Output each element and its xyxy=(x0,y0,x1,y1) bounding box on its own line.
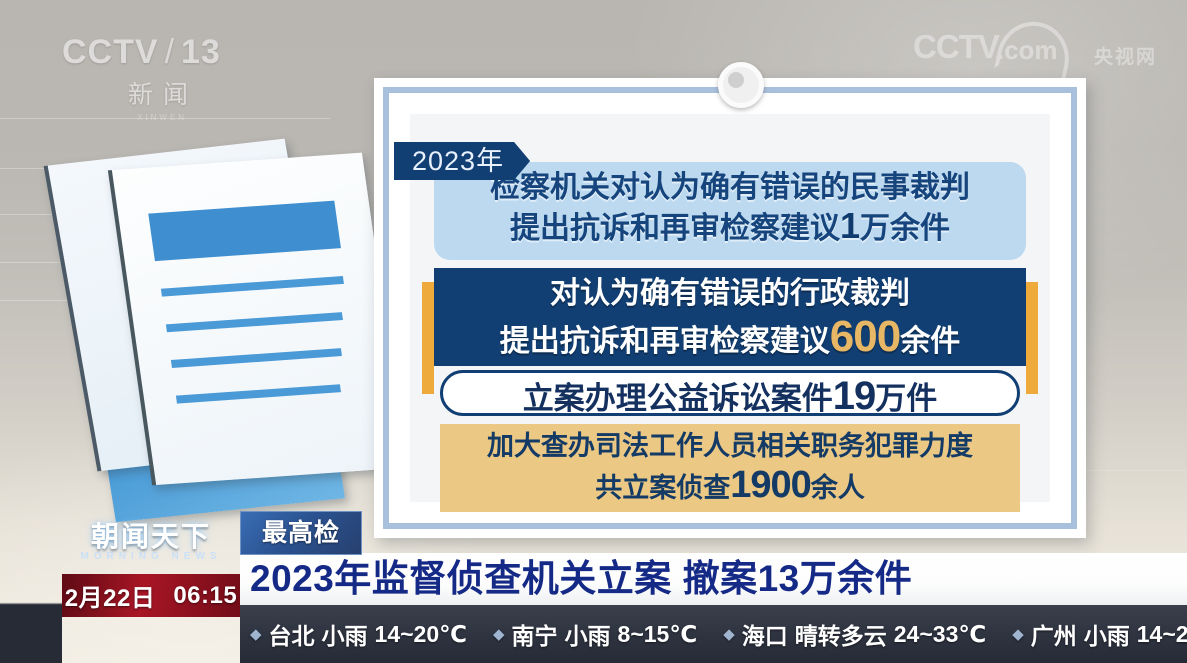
stat-admin-line2: 提出抗诉和再审检察建议600余件 xyxy=(434,311,1026,363)
weather-condition: 小雨 xyxy=(1084,617,1130,651)
stat-duty-prefix: 共立案侦查 xyxy=(595,473,730,503)
program-title: 朝闻天下 xyxy=(62,515,240,555)
stat-public-suffix: 万件 xyxy=(875,381,937,416)
weather-city: 海口 xyxy=(742,617,788,651)
stat-civil-prefix: 提出抗诉和再审检察建议 xyxy=(510,212,840,245)
weather-city: 台北 xyxy=(269,617,315,651)
weather-ticker: ◆ 台北 小雨 14~20℃ ◆ 南宁 小雨 8~15℃ ◆ 海口 晴转多云 2… xyxy=(240,605,1187,663)
stat-duty-line2: 共立案侦查1900余人 xyxy=(440,463,1020,508)
program-subtitle: MORNING NEWS xyxy=(62,551,240,562)
lower-third-chyron: 最高检 朝闻天下 MORNING NEWS 2月22日 06:15 2023年监… xyxy=(0,558,1187,663)
stat-public-prefix: 立案办理公益诉讼案件 xyxy=(523,381,833,416)
stat-block-duty-crime: 加大查办司法工作人员相关职务犯罪力度 共立案侦查1900余人 xyxy=(440,424,1020,512)
weather-temp: 24~33℃ xyxy=(894,621,986,648)
stat-public-number: 19 xyxy=(833,374,876,418)
channel-logo-cctv: CCTV xyxy=(62,33,159,72)
channel-logo: CCTV / 13 新闻 XINWEN xyxy=(62,33,252,125)
accent-bar-left xyxy=(422,282,434,394)
stat-admin-number: 600 xyxy=(830,312,900,361)
stat-public-line1: 立案办理公益诉讼案件19万件 xyxy=(443,373,1017,420)
stat-duty-line1: 加大查办司法工作人员相关职务犯罪力度 xyxy=(440,431,1020,463)
stat-block-civil: 检察机关对认为确有错误的民事裁判 提出抗诉和再审检察建议1万余件 xyxy=(434,162,1026,260)
weather-item: ◆ 海口 晴转多云 24~33℃ xyxy=(723,617,986,651)
program-logo: 朝闻天下 MORNING NEWS xyxy=(62,511,240,574)
datetime-block: 2月22日 06:15 xyxy=(62,574,240,617)
broadcast-time: 06:15 xyxy=(173,582,237,610)
weather-item: ◆ 南宁 小雨 8~15℃ xyxy=(493,617,697,651)
weather-temp: 8~15℃ xyxy=(618,621,698,648)
watermark-cctv-text: CCTV xyxy=(913,28,999,66)
watermark-cn-text: 央视网 xyxy=(1094,42,1157,69)
panel-knob-icon xyxy=(718,62,764,108)
weather-city: 南宁 xyxy=(512,617,558,651)
stat-duty-suffix: 余人 xyxy=(811,473,865,503)
weather-item: ◆ 广州 小雨 14~2 xyxy=(1012,617,1187,651)
channel-logo-subtitle: 新闻 xyxy=(62,75,252,111)
stat-civil-suffix: 万余件 xyxy=(860,212,950,245)
document-line xyxy=(176,384,341,403)
stat-block-administrative: 对认为确有错误的行政裁判 提出抗诉和再审检察建议600余件 xyxy=(434,268,1026,366)
info-panel: 2023年 检察机关对认为确有错误的民事裁判 提出抗诉和再审检察建议1万余件 对… xyxy=(374,78,1086,538)
broadcast-screen: CCTV / 13 新闻 XINWEN CCTV .com 央视网 2023年 xyxy=(0,0,1187,663)
broadcast-date: 2月22日 xyxy=(65,578,156,613)
document-graphic-front xyxy=(108,153,406,486)
chyron-left-cap xyxy=(0,553,62,663)
weather-temp: 14~20℃ xyxy=(375,621,467,648)
stat-civil-line1: 检察机关对认为确有错误的民事裁判 xyxy=(434,170,1026,205)
stat-admin-prefix: 提出抗诉和再审检察建议 xyxy=(500,325,830,358)
weather-bullet-icon: ◆ xyxy=(250,625,262,643)
panel-content-stage: 2023年 检察机关对认为确有错误的民事裁判 提出抗诉和再审检察建议1万余件 对… xyxy=(410,114,1050,502)
stat-admin-line1: 对认为确有错误的行政裁判 xyxy=(434,276,1026,311)
channel-logo-pinyin: XINWEN xyxy=(62,113,252,122)
stat-admin-suffix: 余件 xyxy=(900,325,960,358)
source-tag: 最高检 xyxy=(240,511,362,555)
weather-bullet-icon: ◆ xyxy=(1012,625,1024,643)
document-line xyxy=(166,312,343,332)
headline-text: 2023年监督侦查机关立案 撤案13万余件 xyxy=(240,553,1187,605)
document-line xyxy=(171,348,342,368)
channel-logo-number: 13 xyxy=(181,33,221,72)
watermark-arc-icon xyxy=(994,15,1076,83)
weather-temp: 14~2 xyxy=(1137,621,1187,648)
weather-bullet-icon: ◆ xyxy=(493,625,505,643)
weather-city: 广州 xyxy=(1031,617,1077,651)
stat-duty-number: 1900 xyxy=(730,464,811,506)
accent-bar-right xyxy=(1026,282,1038,394)
year-ribbon: 2023年 xyxy=(394,142,530,180)
stat-block-public-interest: 立案办理公益诉讼案件19万件 xyxy=(440,370,1020,416)
channel-logo-slash: / xyxy=(165,33,175,72)
weather-condition: 小雨 xyxy=(565,617,611,651)
weather-item: ◆ 台北 小雨 14~20℃ xyxy=(250,617,467,651)
weather-condition: 晴转多云 xyxy=(795,617,887,651)
weather-condition: 小雨 xyxy=(322,617,368,651)
stat-civil-number: 1 xyxy=(840,205,860,246)
document-line xyxy=(161,276,344,297)
weather-bullet-icon: ◆ xyxy=(723,625,735,643)
stat-civil-line2: 提出抗诉和再审检察建议1万余件 xyxy=(434,205,1026,247)
panel-inner-border: 2023年 检察机关对认为确有错误的民事裁判 提出抗诉和再审检察建议1万余件 对… xyxy=(383,87,1077,529)
document-header-bar xyxy=(148,201,341,262)
